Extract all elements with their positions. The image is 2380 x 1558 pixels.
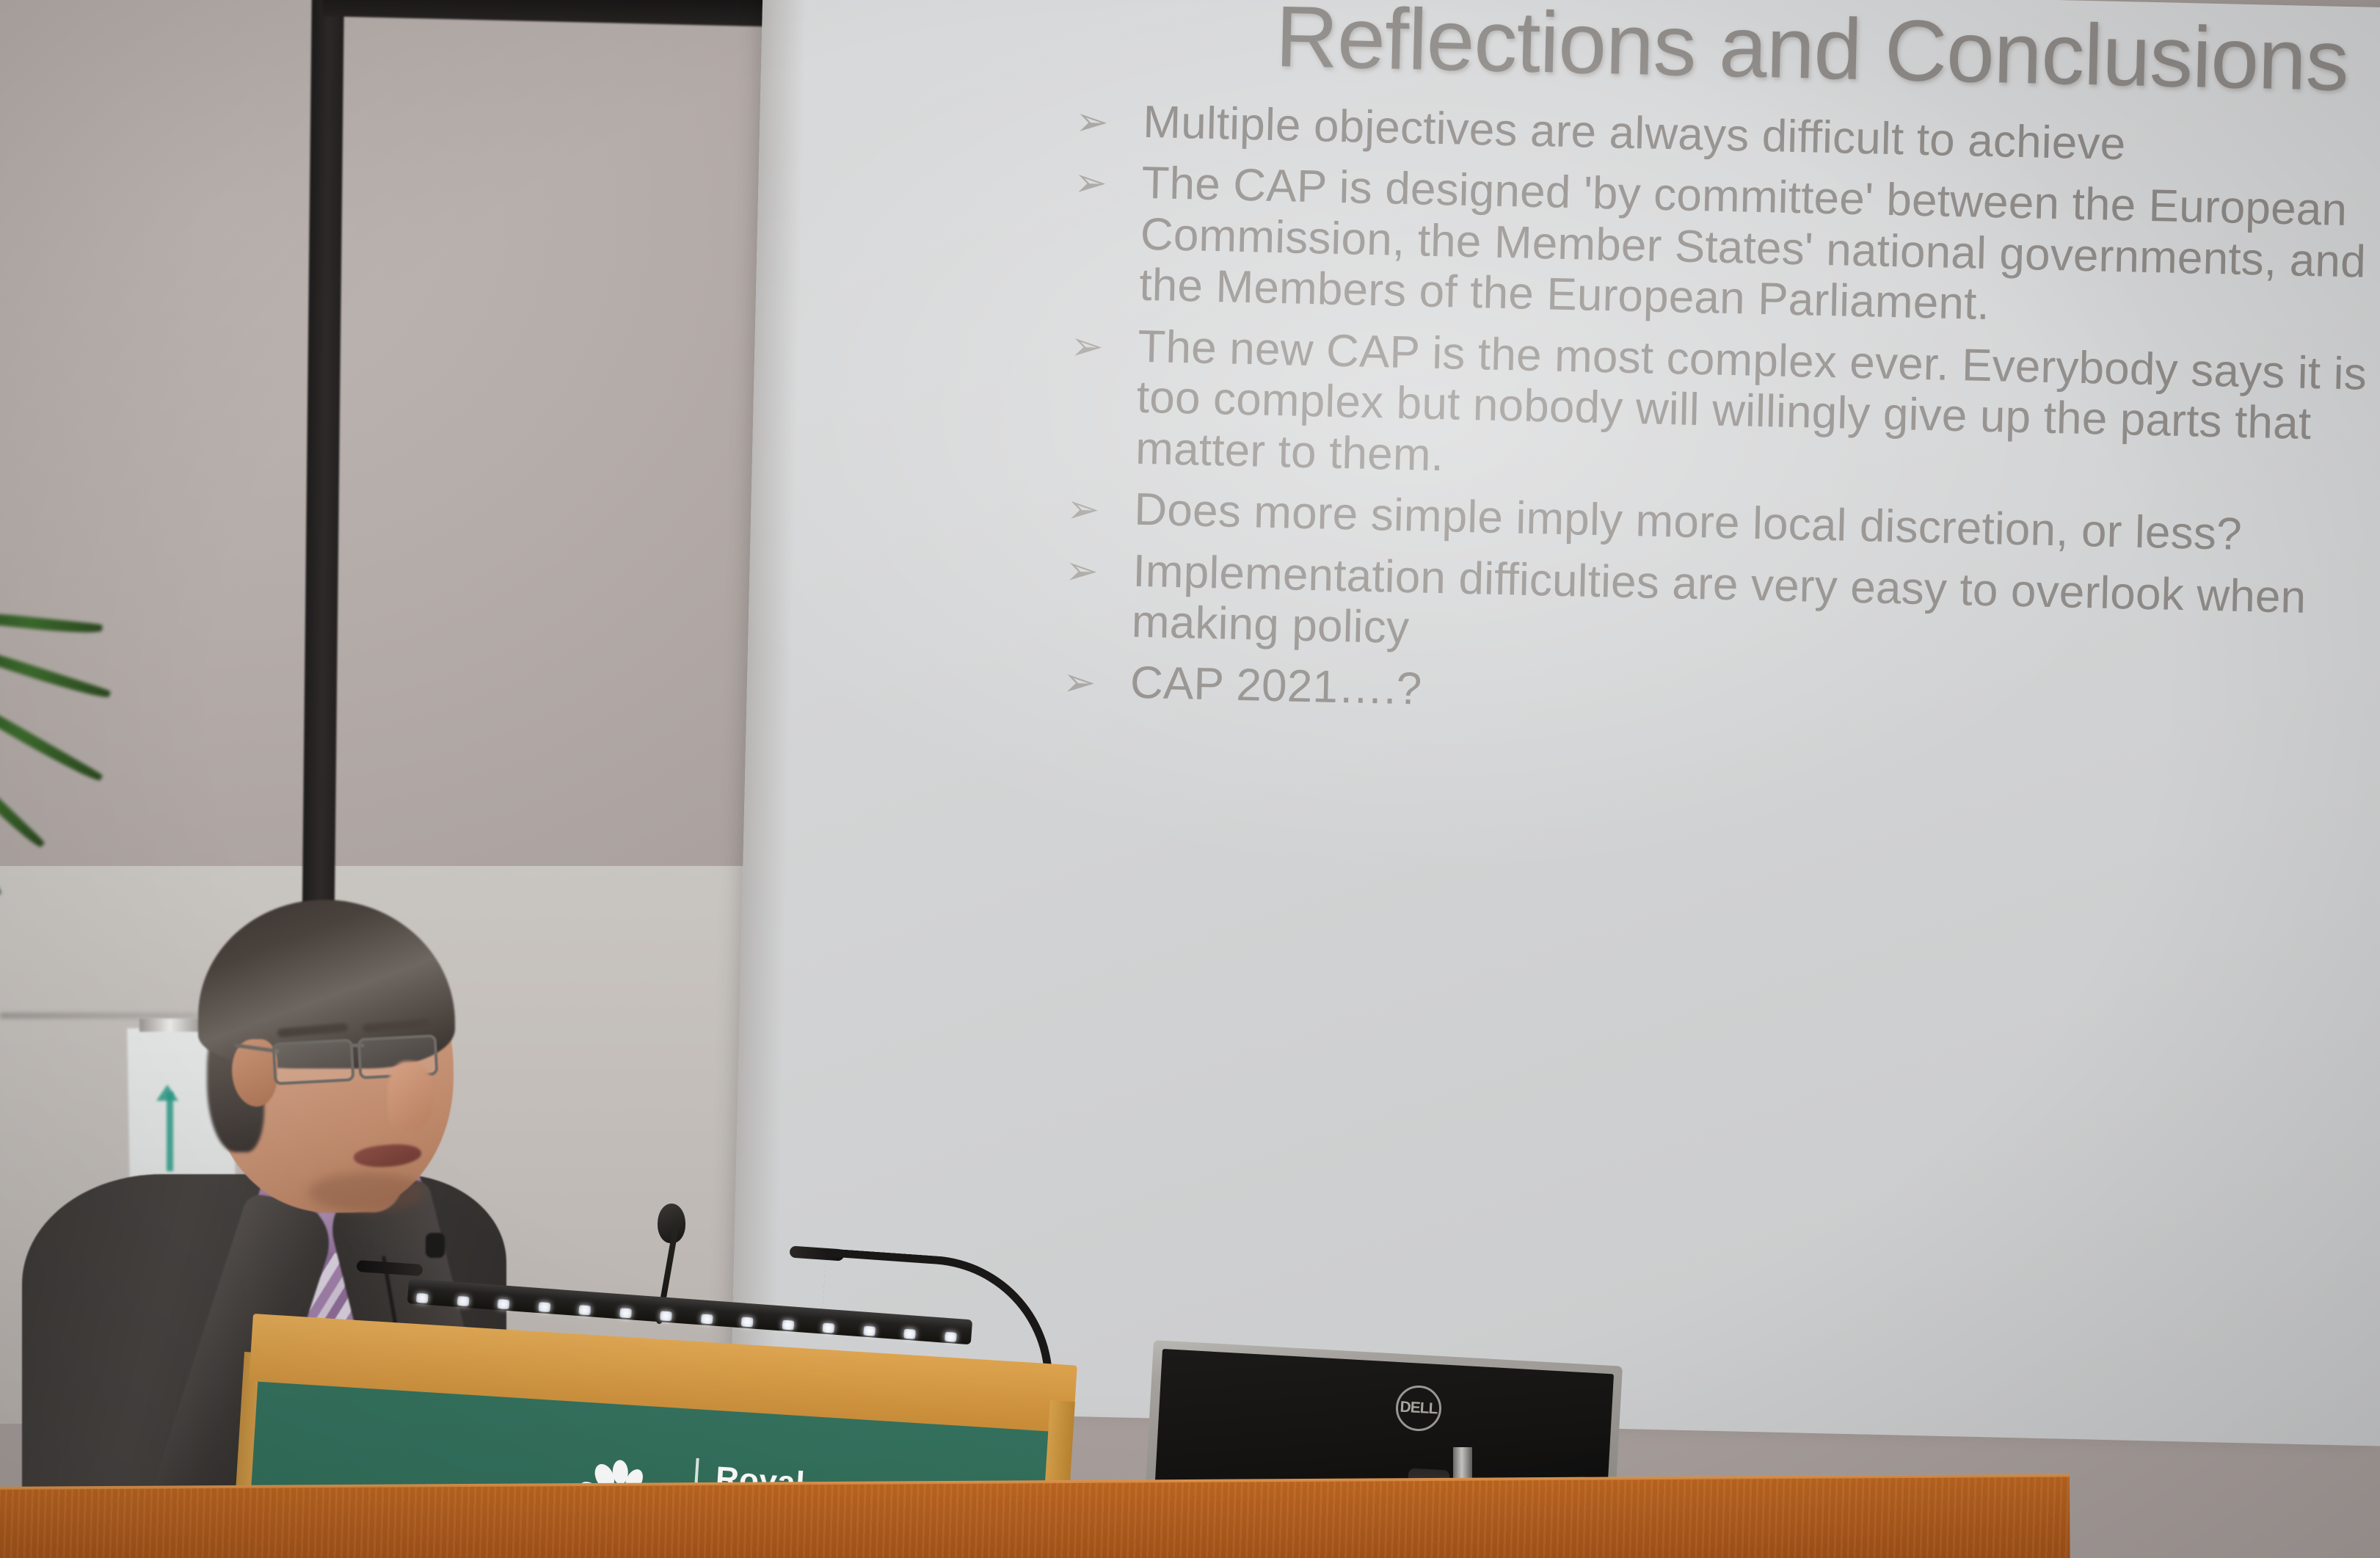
list-item: ➢ The CAP is designed 'by committee' bet… (1071, 156, 2373, 338)
led-lamp (456, 1295, 469, 1306)
slide-bullet-text: Implementation difficulties are very eas… (1131, 545, 2365, 675)
glasses-bridge (351, 1044, 364, 1047)
arrow-bullet-icon: ➢ (1066, 483, 1135, 534)
slide-title: Reflections and Conclusions (1275, 0, 2350, 111)
arrow-bullet-icon: ➢ (1065, 544, 1133, 594)
arrow-bullet-icon: ➢ (1062, 656, 1130, 707)
list-item: ➢ The new CAP is the most complex ever. … (1068, 319, 2370, 501)
list-item: ➢ Implementation difficulties are very e… (1063, 544, 2365, 675)
glasses-lens-left (272, 1038, 355, 1085)
foreground-desk (0, 1477, 2070, 1558)
slide-bullet-list: ➢ Multiple objectives are always difficu… (1062, 95, 2375, 747)
slide-bullet-text: The CAP is designed 'by committee' betwe… (1139, 158, 2373, 338)
palm-plant (0, 631, 154, 939)
led-lamp (498, 1299, 510, 1309)
arrow-bullet-icon: ➢ (1070, 319, 1138, 370)
presentation-photo-scene: Reflections and Conclusions ➢ Multiple o… (0, 0, 2380, 1558)
speaker-chin-shadow (308, 1173, 426, 1212)
arrow-bullet-icon: ➢ (1075, 95, 1143, 146)
led-lamp (538, 1302, 550, 1312)
projection-screen: Reflections and Conclusions ➢ Multiple o… (731, 0, 2380, 1446)
arrow-bullet-icon: ➢ (1074, 156, 1142, 207)
slide-bullet-text: The new CAP is the most complex ever. Ev… (1135, 321, 2370, 501)
speaker-nose (387, 1061, 434, 1132)
desk-wood-grain (0, 1477, 2070, 1558)
presentation-slide: Reflections and Conclusions ➢ Multiple o… (738, 0, 2380, 1109)
lavalier-microphone (426, 1233, 445, 1258)
led-lamp (416, 1292, 429, 1303)
